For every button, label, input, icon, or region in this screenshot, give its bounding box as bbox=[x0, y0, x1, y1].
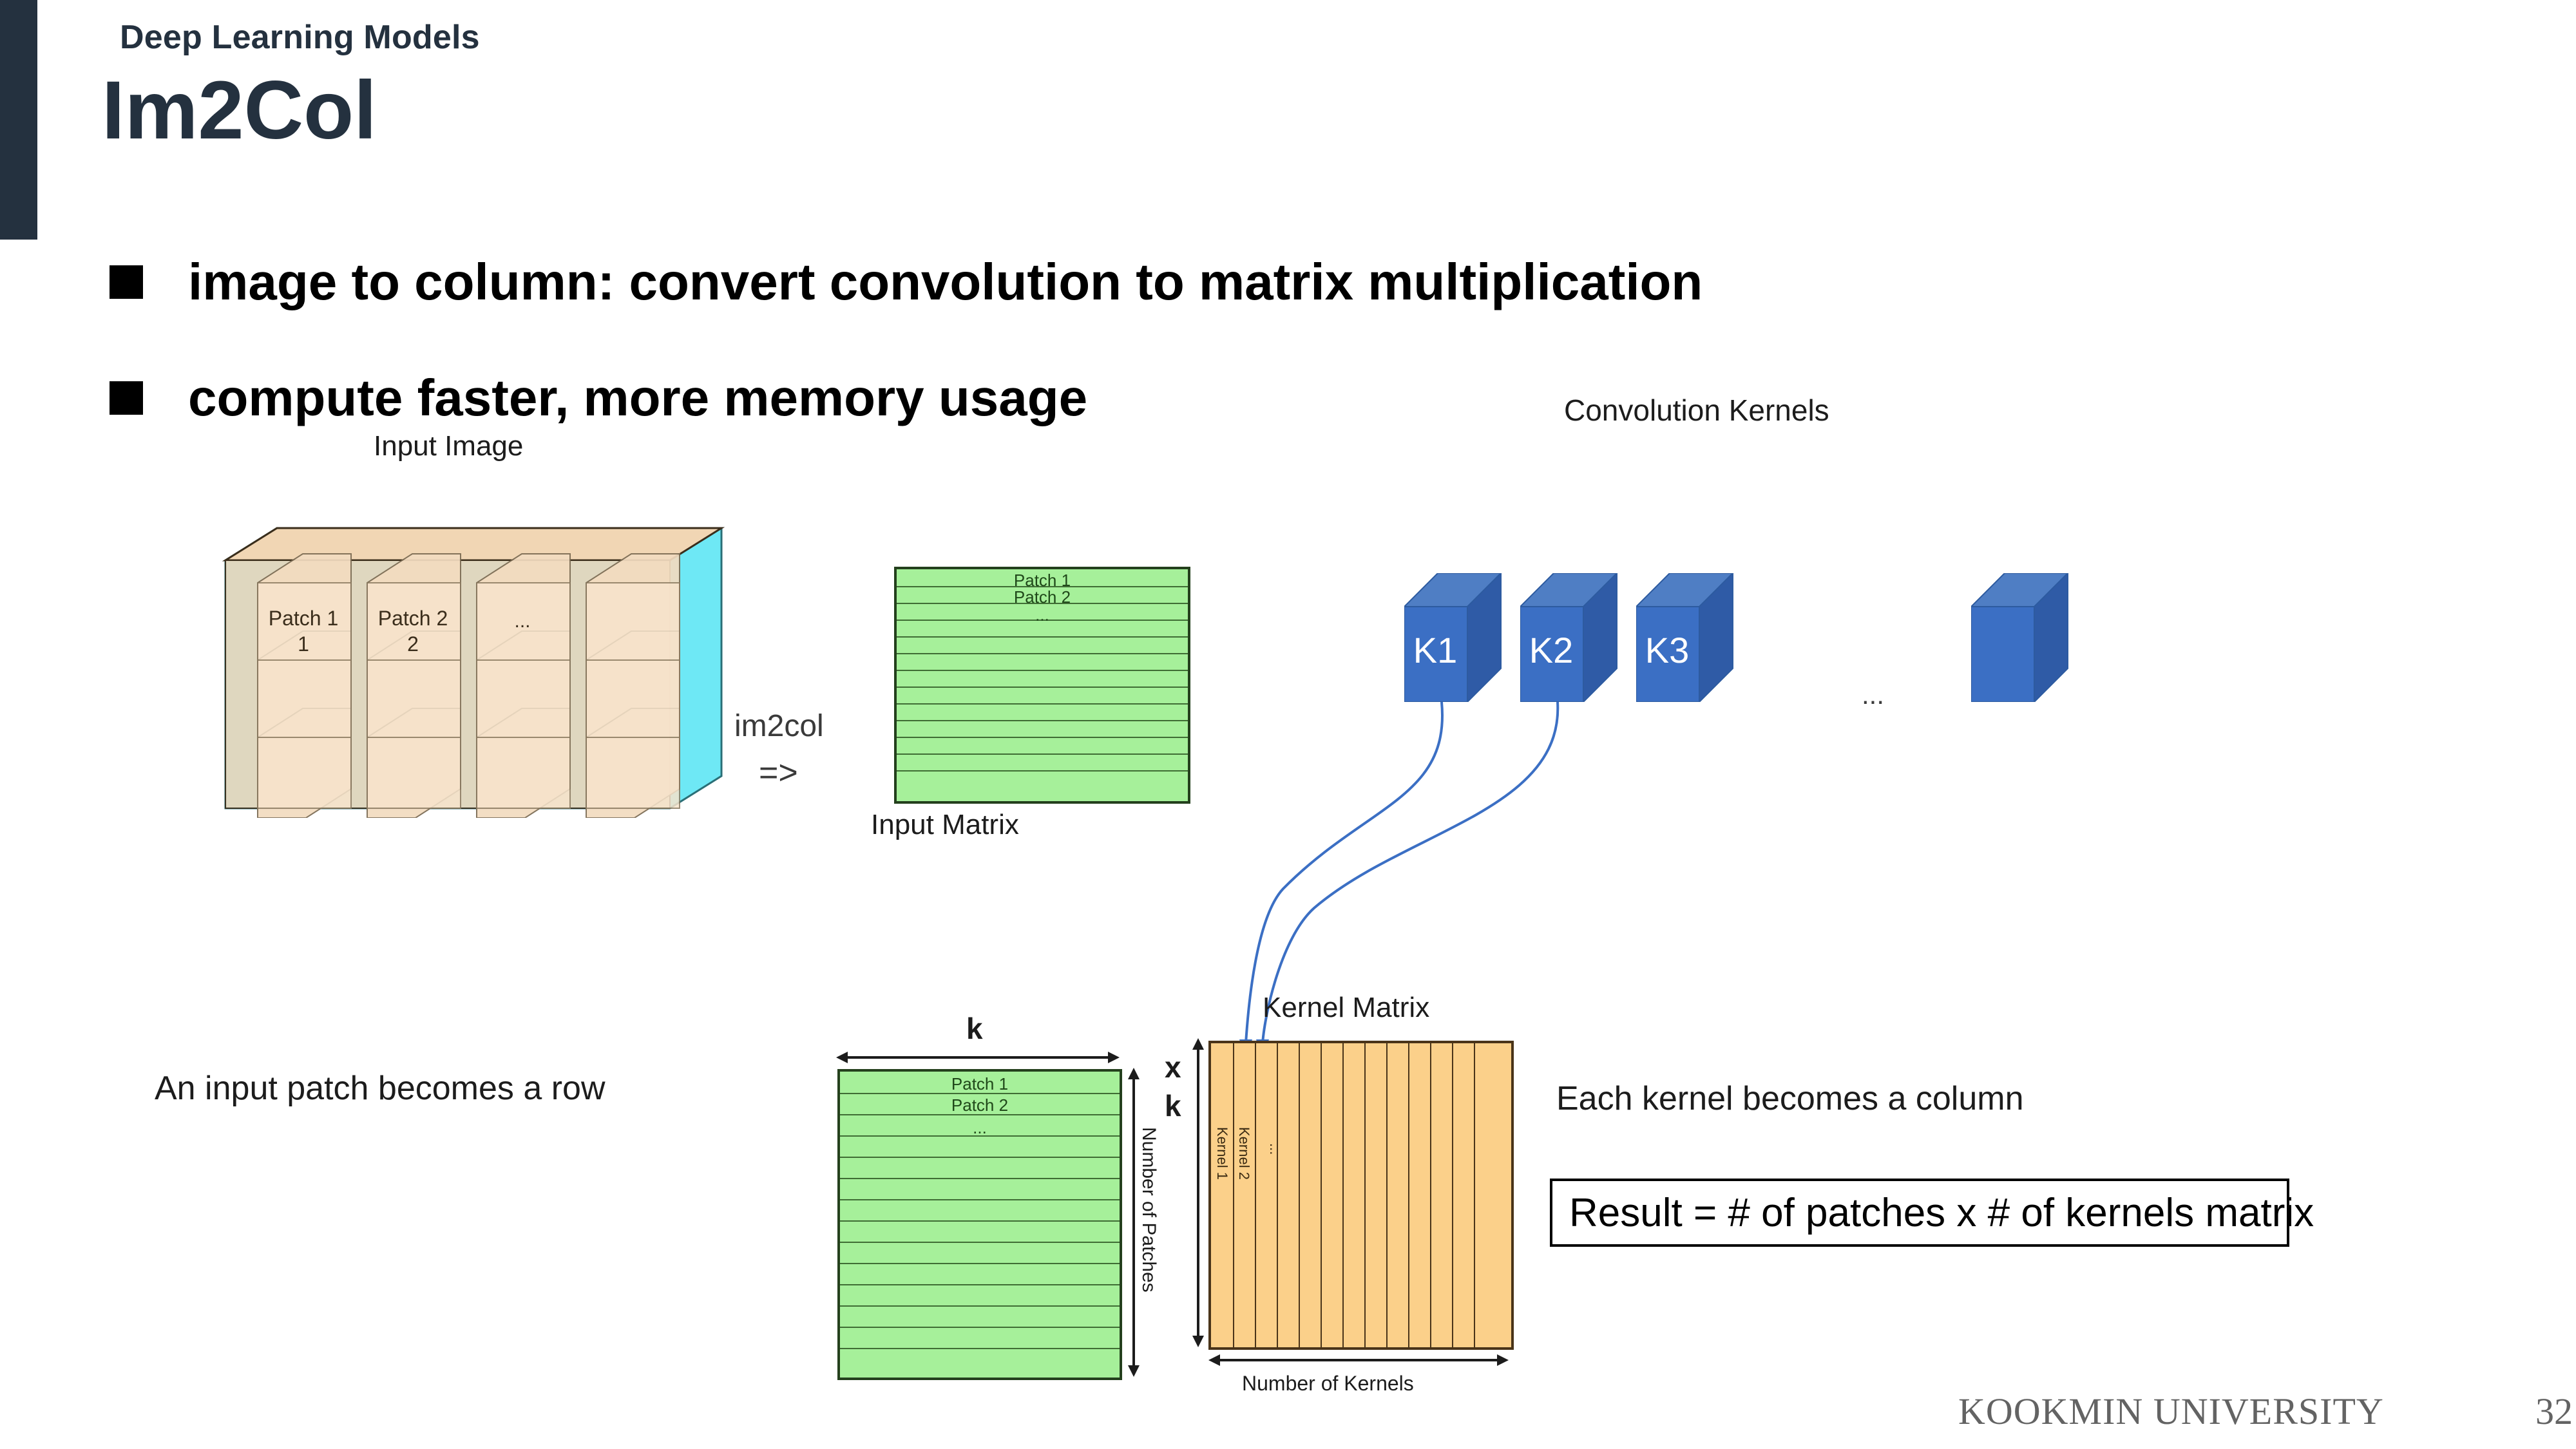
kernel-k2-label: K2 bbox=[1520, 632, 1582, 668]
note-input-patch-row: An input patch becomes a row bbox=[155, 1069, 606, 1108]
kernel-cube-k3: K3 bbox=[1636, 573, 1739, 705]
kernel-column-ellipsis: ... bbox=[1266, 1143, 1283, 1155]
kernel-cube-k1: K1 bbox=[1404, 573, 1507, 705]
kernel-cube-last bbox=[1971, 573, 2074, 705]
kernel-column-2-label: Kernel 2 bbox=[1236, 1127, 1252, 1180]
kernel-k1-label: K1 bbox=[1404, 632, 1466, 668]
im2col-arrow-icon: => bbox=[759, 753, 798, 792]
dim-k-left-label: k bbox=[1165, 1088, 1181, 1123]
note-kernel-column: Each kernel becomes a column bbox=[1556, 1079, 2024, 1118]
footer-page-number: 32 bbox=[2535, 1390, 2573, 1433]
title-accent-bar bbox=[0, 0, 37, 240]
input-matrix-bottom: Patch 1 Patch 2 ... bbox=[837, 1069, 1122, 1380]
convolution-kernels-title: Convolution Kernels bbox=[1564, 393, 1829, 428]
dim-number-of-kernels-label: Number of Kernels bbox=[1242, 1372, 1414, 1396]
input-image-title: Input Image bbox=[374, 430, 523, 462]
bullet-item-2: compute faster, more memory usage bbox=[110, 372, 1087, 424]
input-matrix-row-ellipsis: ... bbox=[897, 605, 1188, 625]
dim-k-top-arrow bbox=[836, 1050, 1120, 1065]
patch-2-label: Patch 2 bbox=[377, 607, 448, 630]
patch-2-index: 2 bbox=[377, 632, 448, 656]
bottom-matrix-row-ellipsis: ... bbox=[840, 1118, 1120, 1138]
bullet-square-icon bbox=[110, 265, 143, 299]
result-box: Result = # of patches x # of kernels mat… bbox=[1550, 1179, 2289, 1247]
input-matrix-top: Patch 1 Patch 2 ... bbox=[894, 567, 1190, 804]
dim-number-of-patches-label: Number of Patches bbox=[1138, 1127, 1159, 1293]
kernel-k3-label: K3 bbox=[1636, 632, 1698, 668]
dim-kernels-arrow bbox=[1208, 1352, 1509, 1368]
result-box-label: Result = # of patches x # of kernels mat… bbox=[1552, 1190, 2331, 1236]
patch-1-label: Patch 1 bbox=[268, 607, 339, 630]
bullet-square-icon bbox=[110, 381, 143, 415]
kernel-column-1-label: Kernel 1 bbox=[1214, 1127, 1230, 1180]
bullet-label: compute faster, more memory usage bbox=[188, 372, 1087, 424]
bottom-matrix-row-2: Patch 2 bbox=[840, 1095, 1120, 1115]
patch-ellipsis: ... bbox=[487, 611, 558, 632]
input-image-block: Patch 1 1 Patch 2 2 ... bbox=[219, 522, 721, 811]
input-matrix-caption: Input Matrix bbox=[871, 809, 1019, 841]
page-title: Im2Col bbox=[102, 70, 377, 152]
slide-eyebrow: Deep Learning Models bbox=[120, 18, 480, 57]
kernel-cube-k2: K2 bbox=[1520, 573, 1623, 705]
dim-k-top-label: k bbox=[966, 1011, 983, 1046]
im2col-diagram: Input Image bbox=[0, 451, 2576, 1385]
kernels-ellipsis: ... bbox=[1862, 679, 1884, 710]
footer-university: KOOKMIN UNIVERSITY bbox=[1958, 1390, 2384, 1433]
bullet-item-1: image to column: convert convolution to … bbox=[110, 256, 1703, 308]
bottom-matrix-row-1: Patch 1 bbox=[840, 1074, 1120, 1094]
dim-k-left-arrow bbox=[1190, 1038, 1206, 1347]
bullet-label: image to column: convert convolution to … bbox=[188, 256, 1703, 308]
kernel-matrix-caption: Kernel Matrix bbox=[1263, 992, 1429, 1024]
patch-1-index: 1 bbox=[268, 632, 339, 656]
input-matrix-row-2: Patch 2 bbox=[897, 587, 1188, 607]
kernel-matrix: Kernel 1 Kernel 2 ... bbox=[1208, 1041, 1514, 1350]
multiply-symbol: x bbox=[1165, 1050, 1181, 1084]
im2col-transform-label: im2col bbox=[734, 708, 824, 744]
